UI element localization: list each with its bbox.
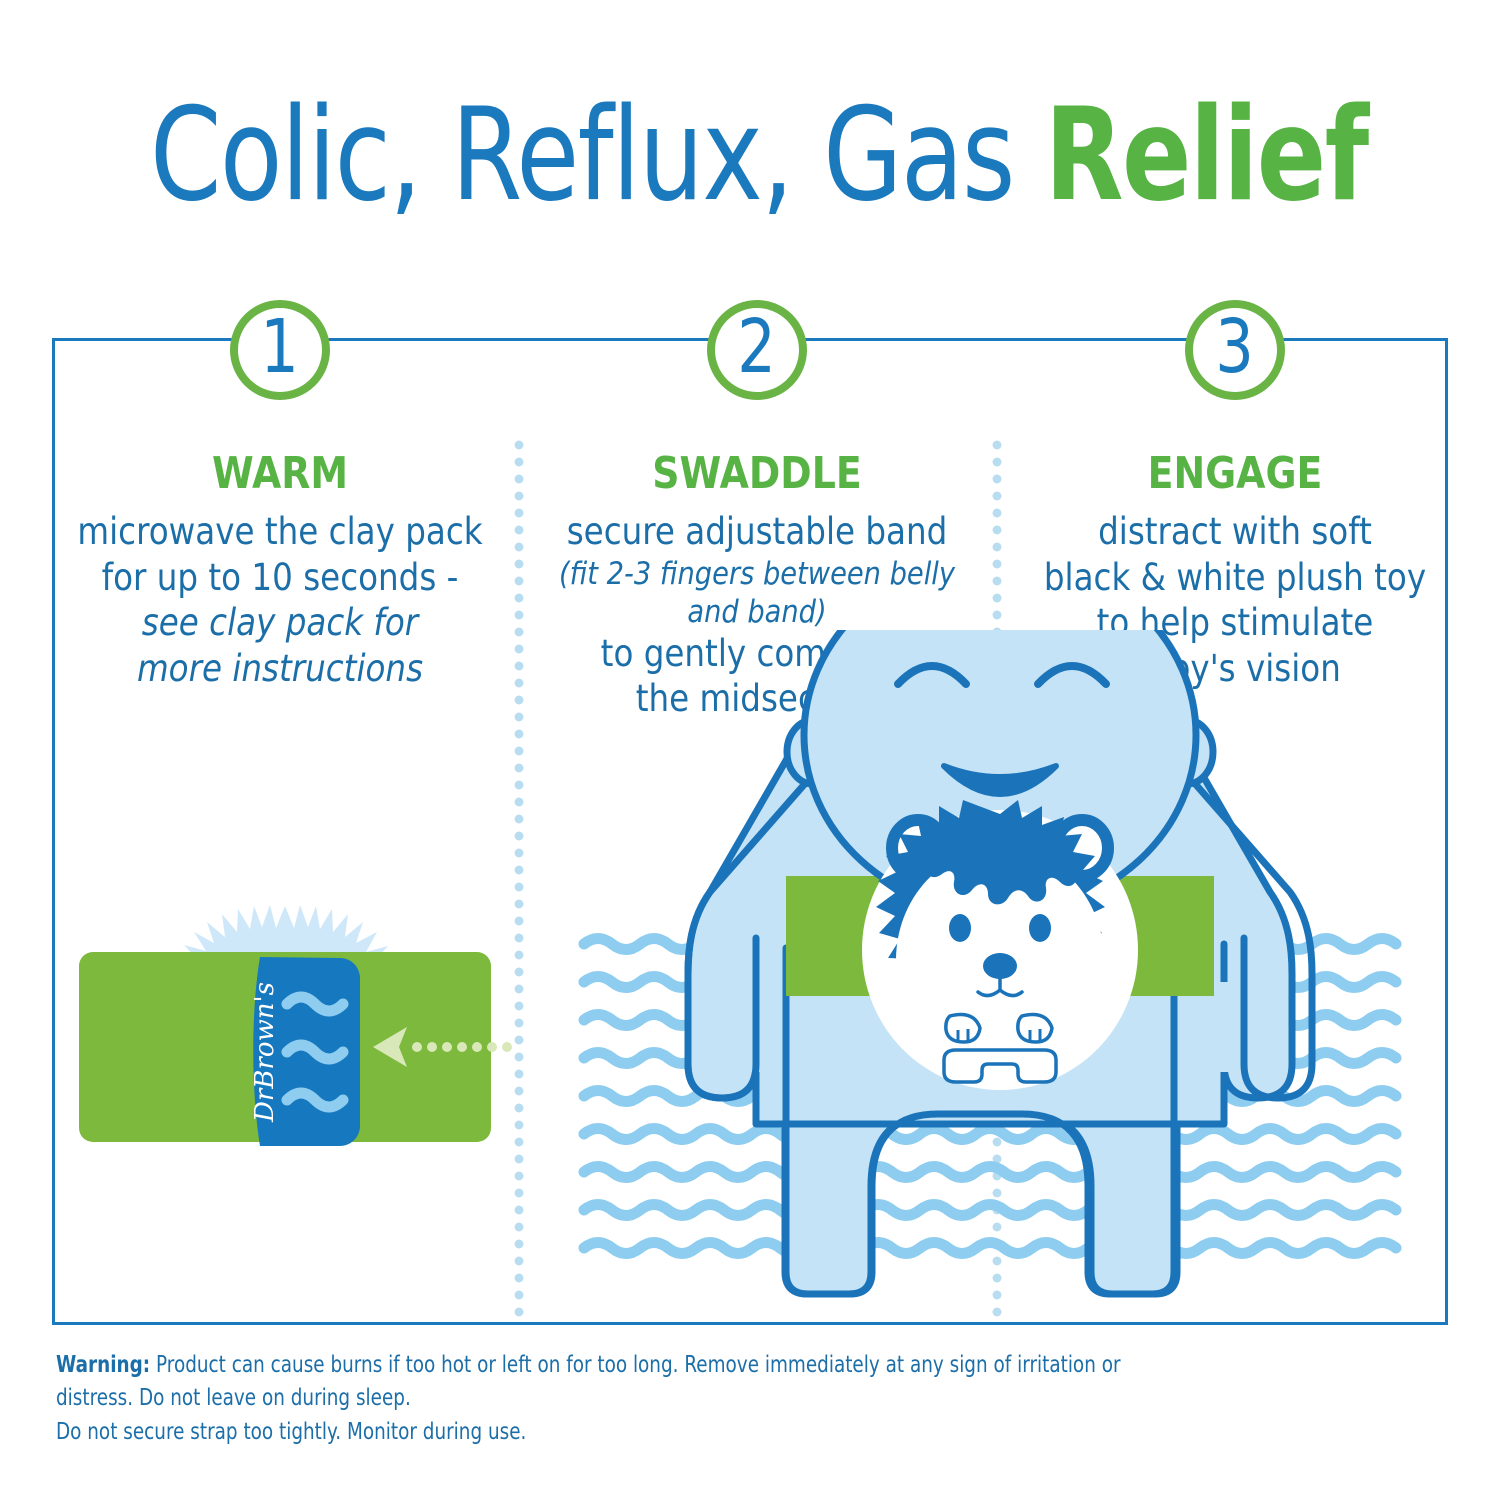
hedgehog-right-paw-icon <box>1018 1015 1052 1043</box>
step-number-badge-3: 3 <box>1185 300 1285 400</box>
step-body-line: secure adjustable band <box>550 509 964 555</box>
step-number-2: 2 <box>738 310 777 384</box>
step-column-1: 1 WARM microwave the clay pack for up to… <box>45 300 515 691</box>
hedgehog-left-eye-icon <box>949 914 971 942</box>
step-number-1: 1 <box>261 310 300 384</box>
step-heading-1: WARM <box>78 448 482 499</box>
step-body-line: see clay pack for <box>73 600 487 646</box>
clay-pack-illustration: DrBrown's <box>55 900 515 1240</box>
title-green-part: Relief <box>1045 81 1368 230</box>
step-heading-3: ENGAGE <box>1033 448 1437 499</box>
step-number-badge-1: 1 <box>230 300 330 400</box>
title-blue-part: Colic, Reflux, Gas <box>150 81 1045 230</box>
warning-line-2: Do not secure strap too tightly. Monitor… <box>56 1416 1176 1449</box>
warning-label: Warning: <box>56 1352 150 1378</box>
step-body-line: black & white plush toy <box>1028 555 1442 601</box>
warning-line-1: Warning: Product can cause burns if too … <box>56 1349 1176 1416</box>
page-title: Colic, Reflux, Gas Relief <box>150 92 1350 220</box>
hedgehog-right-eye-icon <box>1029 914 1051 942</box>
warning-text: Warning: Product can cause burns if too … <box>56 1349 1176 1449</box>
hedgehog-plush-toy <box>862 800 1138 1090</box>
infographic-page: Colic, Reflux, Gas Relief 1 WARM microwa… <box>0 0 1500 1500</box>
warning-body-1: Product can cause burns if too hot or le… <box>56 1352 1121 1411</box>
step-body-line: (fit 2-3 fingers between belly and band) <box>550 555 964 631</box>
step-number-3: 3 <box>1216 310 1255 384</box>
step-heading-2: SWADDLE <box>555 448 959 499</box>
step-body-line: more instructions <box>73 646 487 692</box>
clay-pack-insert: DrBrown's <box>250 957 360 1146</box>
step-number-badge-2: 2 <box>707 300 807 400</box>
step-body-1: microwave the clay pack for up to 10 sec… <box>73 509 487 691</box>
brand-logo-text: DrBrown's <box>250 982 280 1123</box>
baby-illustration <box>560 630 1440 1320</box>
step-body-line: for up to 10 seconds - <box>73 555 487 601</box>
hedgehog-left-paw-icon <box>946 1015 980 1043</box>
step-body-line: distract with soft <box>1028 509 1442 555</box>
step-body-line: microwave the clay pack <box>73 509 487 555</box>
